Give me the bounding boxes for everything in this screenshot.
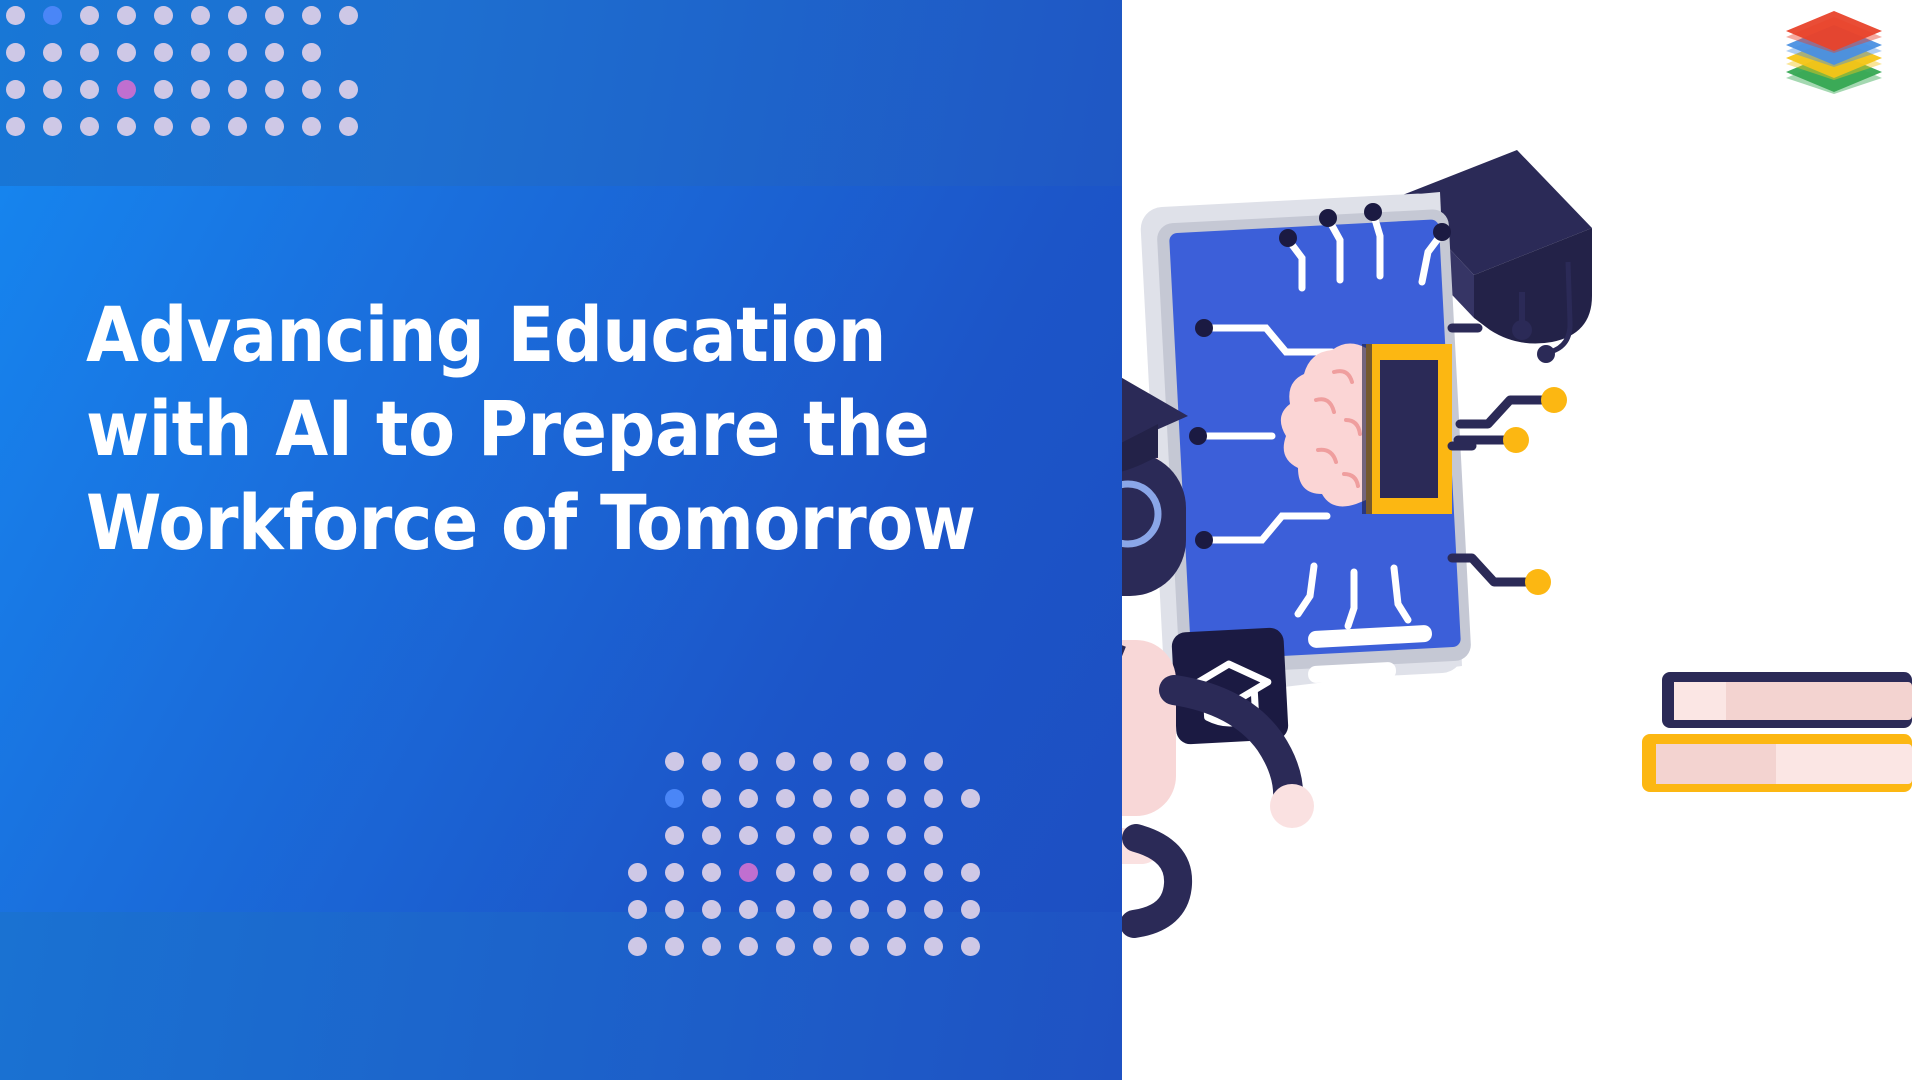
- decorative-dot: [117, 80, 136, 99]
- hero-band-bottom: [0, 912, 1122, 1080]
- decorative-dot: [850, 826, 869, 845]
- decorative-dot: [961, 937, 980, 956]
- decorative-dot: [776, 937, 795, 956]
- decorative-dot: [117, 43, 136, 62]
- decorative-dot: [924, 863, 943, 882]
- circuit-node: [1195, 531, 1213, 549]
- page-title: Advancing Education with AI to Prepare t…: [86, 288, 986, 570]
- decorative-dot: [961, 900, 980, 919]
- decorative-dot: [702, 900, 721, 919]
- decorative-dot: [302, 43, 321, 62]
- decorative-dot: [813, 826, 832, 845]
- decorative-dot: [628, 937, 647, 956]
- decorative-dot: [628, 863, 647, 882]
- decorative-dot: [702, 863, 721, 882]
- decorative-dot: [302, 80, 321, 99]
- decorative-dot: [228, 6, 247, 25]
- headline-line-2: with AI to Prepare the: [86, 382, 986, 476]
- decorative-dot: [80, 117, 99, 136]
- decorative-dot: [739, 937, 758, 956]
- decorative-dot: [850, 900, 869, 919]
- decorative-dot: [265, 117, 284, 136]
- decorative-dot: [924, 937, 943, 956]
- decorative-dot: [339, 80, 358, 99]
- headline-line-3: Workforce of Tomorrow: [86, 476, 986, 570]
- decorative-dot: [887, 863, 906, 882]
- book-stack: [1642, 672, 1912, 792]
- decorative-dot: [702, 826, 721, 845]
- decorative-dot: [43, 43, 62, 62]
- decorative-dot: [887, 826, 906, 845]
- decorative-dot: [961, 863, 980, 882]
- decorative-dot: [339, 117, 358, 136]
- decorative-dot: [228, 80, 247, 99]
- decorative-dot: [665, 789, 684, 808]
- brain-chip-graphic: [1281, 343, 1452, 514]
- decorative-dot: [776, 752, 795, 771]
- decorative-dot: [776, 826, 795, 845]
- decorative-dot: [887, 789, 906, 808]
- decorative-dot: [776, 789, 795, 808]
- circuit-node-yellow: [1541, 387, 1567, 413]
- decorative-dot: [887, 937, 906, 956]
- ai-education-illustration: Aa: [1122, 0, 1920, 1080]
- decorative-dot: [43, 6, 62, 25]
- decorative-dot: [739, 789, 758, 808]
- decorative-dot: [154, 80, 173, 99]
- circuit-node-yellow: [1525, 569, 1551, 595]
- decorative-dot: [154, 43, 173, 62]
- decorative-dot: [228, 43, 247, 62]
- decorative-dot: [628, 900, 647, 919]
- decorative-dot: [117, 6, 136, 25]
- decorative-dot: [702, 789, 721, 808]
- decorative-dot: [6, 80, 25, 99]
- decorative-dot: [924, 789, 943, 808]
- decorative-dot: [813, 752, 832, 771]
- decorative-dot: [6, 43, 25, 62]
- decorative-dot: [302, 117, 321, 136]
- decorative-dot: [739, 752, 758, 771]
- decorative-dot: [80, 6, 99, 25]
- chip-core: [1380, 360, 1438, 498]
- decorative-dot: [265, 80, 284, 99]
- decorative-dot: [43, 80, 62, 99]
- decorative-dot: [228, 117, 247, 136]
- decorative-dot: [850, 863, 869, 882]
- slide-canvas: Advancing Education with AI to Prepare t…: [0, 0, 1920, 1080]
- decorative-dot: [739, 900, 758, 919]
- book-yellow: [1642, 734, 1912, 792]
- decorative-dot: [924, 826, 943, 845]
- decorative-dot: [43, 117, 62, 136]
- decorative-dot: [80, 43, 99, 62]
- circuit-node: [1189, 427, 1207, 445]
- decorative-dot: [665, 863, 684, 882]
- headline-line-1: Advancing Education: [86, 288, 986, 382]
- decorative-dot: [813, 863, 832, 882]
- decorative-dot: [850, 752, 869, 771]
- decorative-dot: [702, 752, 721, 771]
- decorative-dot: [265, 6, 284, 25]
- decorative-dot: [80, 80, 99, 99]
- hero-panel: Advancing Education with AI to Prepare t…: [0, 0, 1122, 1080]
- decorative-dot: [813, 937, 832, 956]
- decorative-dot: [191, 43, 210, 62]
- decorative-dot: [154, 117, 173, 136]
- decorative-dot: [665, 752, 684, 771]
- decorative-dot: [739, 826, 758, 845]
- decorative-dot: [665, 900, 684, 919]
- external-circuit-traces: [1452, 328, 1550, 582]
- decorative-dot: [191, 6, 210, 25]
- decorative-dot: [265, 43, 284, 62]
- decorative-dot: [702, 937, 721, 956]
- decorative-dot: [302, 6, 321, 25]
- circuit-node: [1195, 319, 1213, 337]
- decorative-dot: [6, 6, 25, 25]
- decorative-dot: [739, 863, 758, 882]
- decorative-dot: [665, 826, 684, 845]
- decorative-dot: [339, 6, 358, 25]
- circuit-node-yellow: [1503, 427, 1529, 453]
- decorative-dot: [665, 937, 684, 956]
- decorative-dot: [961, 789, 980, 808]
- decorative-dot: [887, 752, 906, 771]
- decorative-dot: [191, 117, 210, 136]
- decorative-dot: [924, 900, 943, 919]
- decorative-dot: [813, 789, 832, 808]
- decorative-dot: [813, 900, 832, 919]
- decorative-dot: [154, 6, 173, 25]
- decorative-dot: [6, 117, 25, 136]
- decorative-dot: [776, 900, 795, 919]
- decorative-dot: [924, 752, 943, 771]
- decorative-dot: [776, 863, 795, 882]
- decorative-dot: [191, 80, 210, 99]
- decorative-dot: [850, 789, 869, 808]
- decorative-dot: [887, 900, 906, 919]
- decorative-dot: [850, 937, 869, 956]
- decorative-dot: [117, 117, 136, 136]
- book-navy: [1662, 672, 1912, 728]
